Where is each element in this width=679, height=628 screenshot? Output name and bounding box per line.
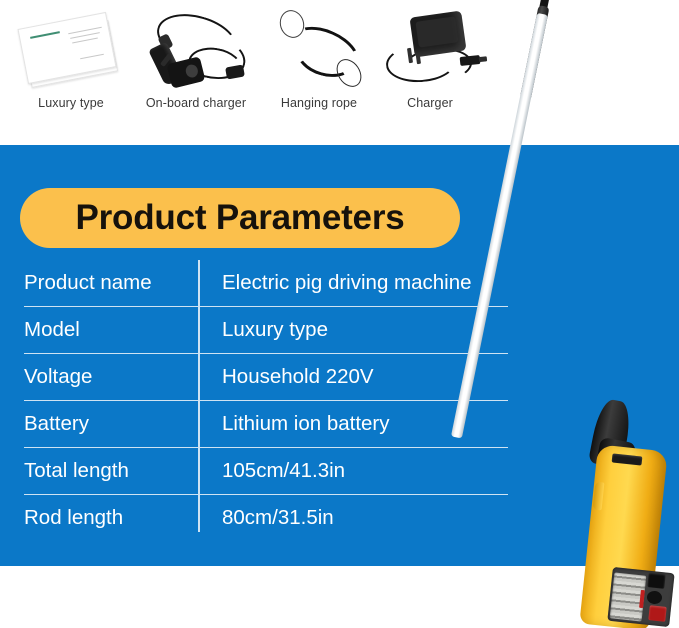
spec-value: 80cm/31.5in	[198, 506, 508, 530]
page-title: Product Parameters	[75, 198, 404, 238]
accessory-label-on-board-charger: On-board charger	[134, 96, 258, 110]
control-panel-plate	[607, 567, 674, 627]
spec-value: Household 220V	[198, 365, 508, 389]
table-row: Battery Lithium ion battery	[24, 401, 508, 448]
spec-value: Luxury type	[198, 318, 508, 342]
control-panel-label	[610, 572, 647, 621]
table-row: Voltage Household 220V	[24, 354, 508, 401]
spec-key: Battery	[24, 412, 198, 436]
wall-charger-icon	[382, 8, 492, 88]
table-row: Total length 105cm/41.3in	[24, 448, 508, 495]
accessories-strip: Luxury type On-board charger Hanging rop…	[0, 0, 679, 145]
round-button	[646, 590, 662, 604]
control-panel-red-marker	[639, 590, 645, 608]
table-row: Model Luxury type	[24, 307, 508, 354]
spec-key: Rod length	[24, 506, 198, 530]
table-row: Rod length 80cm/31.5in	[24, 495, 508, 541]
spec-key: Model	[24, 318, 198, 342]
product-parameters-page: Luxury type On-board charger Hanging rop…	[0, 0, 679, 628]
accessory-label-luxury-type: Luxury type	[22, 96, 120, 110]
spec-key: Voltage	[24, 365, 198, 389]
power-switch-dark	[647, 572, 665, 589]
accessory-label-hanging-rope: Hanging rope	[266, 96, 372, 110]
parameters-panel: Product Parameters Product name Electric…	[0, 145, 679, 566]
spec-value: Electric pig driving machine	[198, 271, 508, 295]
wrist-strap-icon	[272, 10, 372, 88]
red-switch	[648, 605, 666, 622]
spec-key: Total length	[24, 459, 198, 483]
car-charger-icon	[140, 8, 252, 88]
spec-value: 105cm/41.3in	[198, 459, 508, 483]
instruction-manual-icon	[22, 12, 120, 84]
spec-value: Lithium ion battery	[198, 412, 508, 436]
spec-table: Product name Electric pig driving machin…	[24, 260, 508, 541]
table-row: Product name Electric pig driving machin…	[24, 260, 508, 307]
product-parameters-title-pill: Product Parameters	[20, 188, 460, 248]
spec-key: Product name	[24, 271, 198, 295]
accessory-label-charger: Charger	[378, 96, 482, 110]
